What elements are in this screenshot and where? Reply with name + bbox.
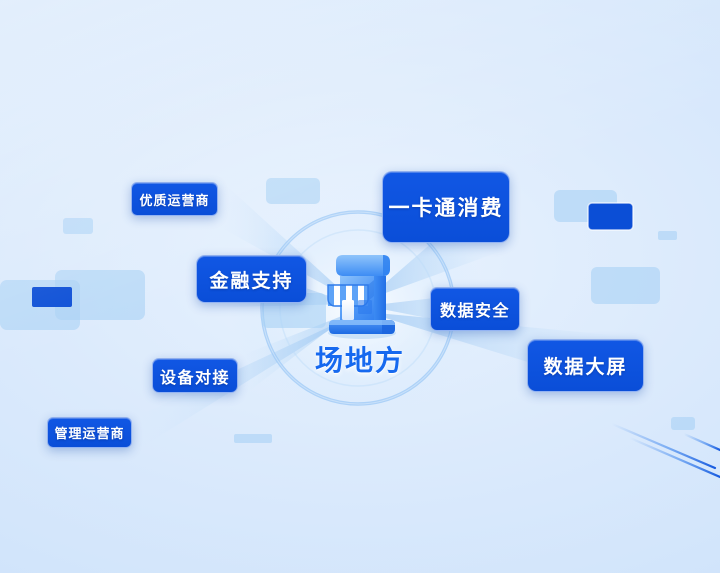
- node-label-yikatong-xiaofei[interactable]: 一卡通消费: [382, 171, 510, 243]
- node-label-shuju-daping[interactable]: 数据大屏: [527, 339, 644, 392]
- center-title: 场地方: [288, 339, 432, 379]
- node-label-guanli-yunyingshang[interactable]: 管理运营商: [47, 417, 132, 448]
- node-label-shebei-duijie[interactable]: 设备对接: [152, 358, 238, 393]
- center-node[interactable]: 场地方: [300, 243, 420, 383]
- infographic-canvas: 优质运营商金融支持设备对接管理运营商一卡通消费数据安全数据大屏: [0, 0, 720, 573]
- node-label-jinrong-zhichi[interactable]: 金融支持: [196, 255, 307, 303]
- shop-storefront-icon: [316, 243, 408, 339]
- node-label-shuju-anquan[interactable]: 数据安全: [430, 287, 520, 331]
- node-label-youzhi-yunyingshang[interactable]: 优质运营商: [131, 182, 218, 216]
